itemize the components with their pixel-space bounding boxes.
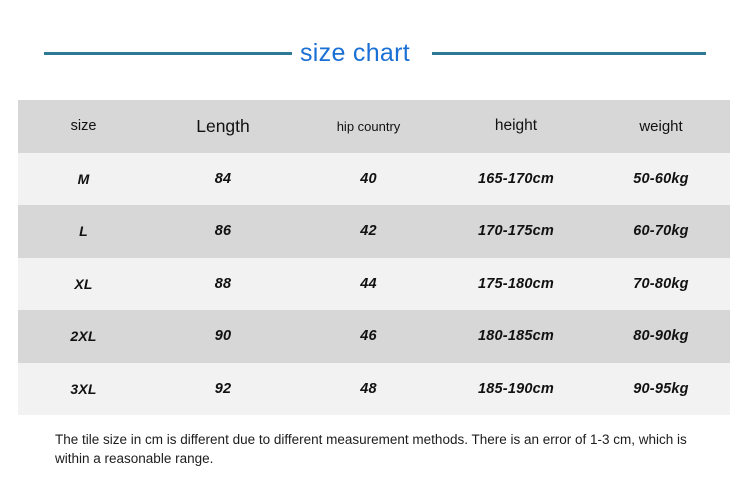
cell-size: 3XL (18, 363, 149, 416)
column-header-length: Length (149, 100, 297, 153)
cell-size: XL (18, 258, 149, 311)
cell-hip: 42 (297, 205, 440, 258)
cell-weight: 70-80kg (592, 258, 730, 311)
cell-size: M (18, 153, 149, 206)
cell-height: 180-185cm (440, 310, 592, 363)
cell-weight: 60-70kg (592, 205, 730, 258)
table-row: 3XL 92 48 185-190cm 90-95kg (18, 363, 730, 416)
cell-length: 88 (149, 258, 297, 311)
cell-height: 165-170cm (440, 153, 592, 206)
cell-hip: 48 (297, 363, 440, 416)
cell-length: 86 (149, 205, 297, 258)
measurement-disclaimer: The tile size in cm is different due to … (55, 430, 703, 468)
table-header-row: size Length hip country height weight (18, 100, 730, 153)
column-header-weight: weight (592, 100, 730, 153)
page-title: size chart (300, 41, 410, 66)
cell-height: 170-175cm (440, 205, 592, 258)
table-row: L 86 42 170-175cm 60-70kg (18, 205, 730, 258)
cell-hip: 44 (297, 258, 440, 311)
cell-height: 175-180cm (440, 258, 592, 311)
table-row: XL 88 44 175-180cm 70-80kg (18, 258, 730, 311)
cell-length: 90 (149, 310, 297, 363)
cell-hip: 40 (297, 153, 440, 206)
cell-size: L (18, 205, 149, 258)
column-header-hip: hip country (297, 100, 440, 153)
cell-hip: 46 (297, 310, 440, 363)
chart-title-block: size chart (0, 30, 750, 76)
size-chart-table: size Length hip country height weight M … (18, 100, 730, 415)
cell-length: 92 (149, 363, 297, 416)
table-row: 2XL 90 46 180-185cm 80-90kg (18, 310, 730, 363)
cell-weight: 90-95kg (592, 363, 730, 416)
column-header-height: height (440, 100, 592, 153)
cell-weight: 50-60kg (592, 153, 730, 206)
cell-weight: 80-90kg (592, 310, 730, 363)
title-rule-left (44, 52, 292, 55)
cell-height: 185-190cm (440, 363, 592, 416)
cell-length: 84 (149, 153, 297, 206)
table-row: M 84 40 165-170cm 50-60kg (18, 153, 730, 206)
title-rule-right (432, 52, 706, 55)
column-header-size: size (18, 100, 149, 153)
cell-size: 2XL (18, 310, 149, 363)
